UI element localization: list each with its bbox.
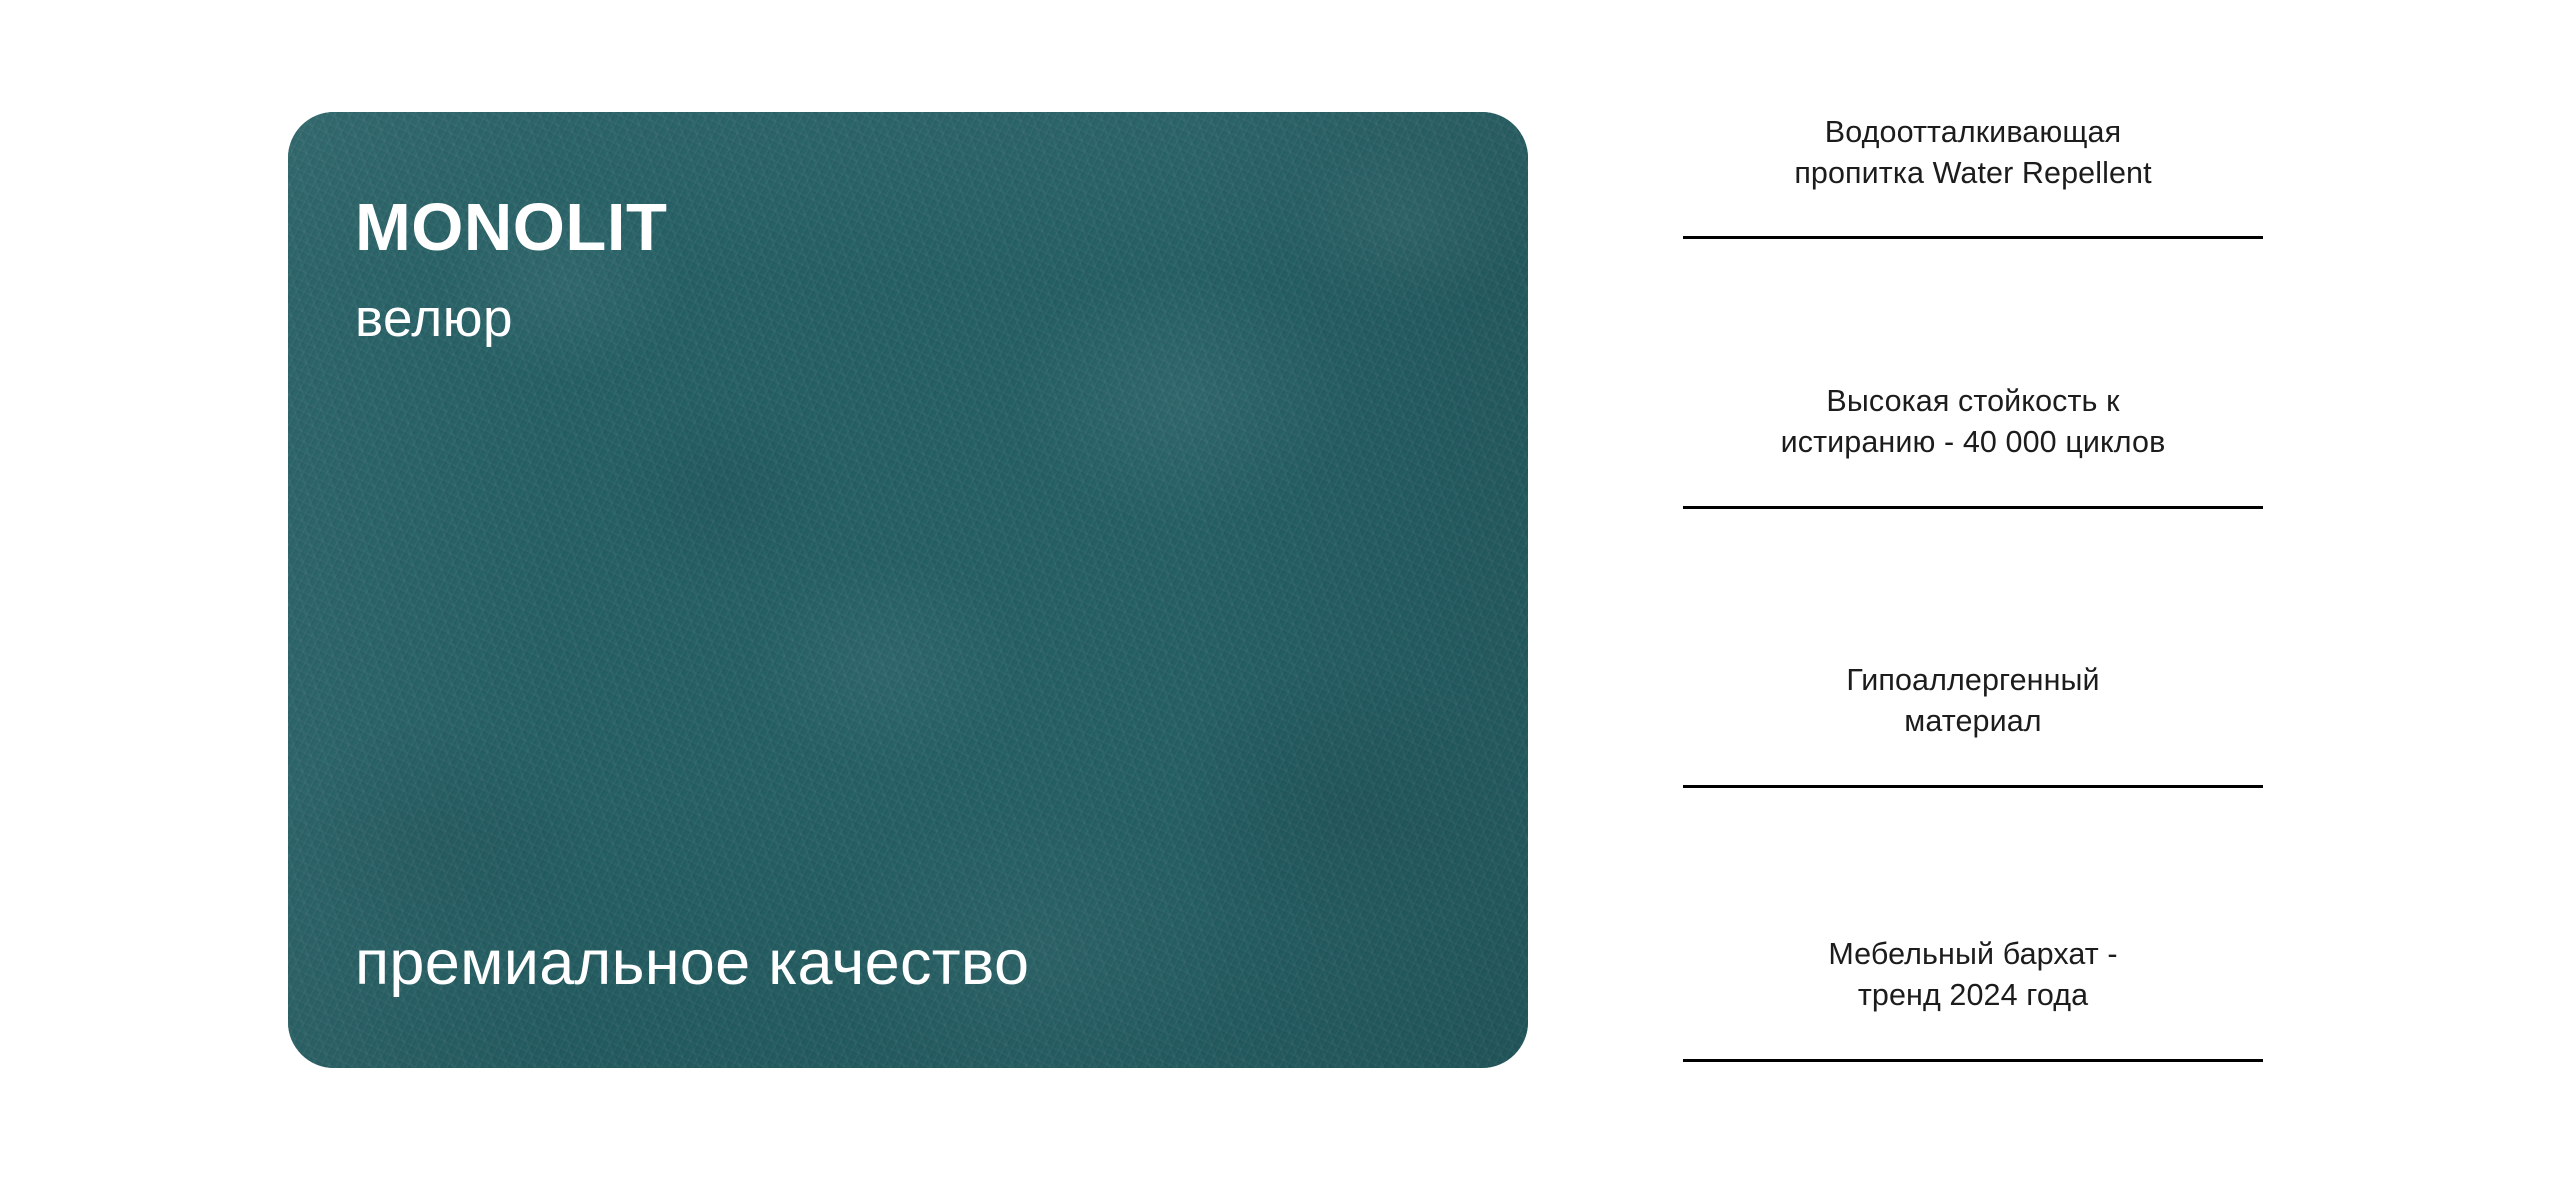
feature-item-trend-2024: Мебельный бархат - тренд 2024 года — [1683, 934, 2263, 1062]
swatch-text-group: MONOLIT велюр премиальное качество — [288, 112, 1528, 1068]
brand-tagline: премиальное качество — [355, 932, 1029, 995]
feature-text: Гипоаллергенный материал — [1683, 660, 2263, 742]
feature-line-2: истиранию - 40 000 циклов — [1683, 422, 2263, 463]
feature-divider — [1683, 506, 2263, 509]
feature-divider — [1683, 785, 2263, 788]
feature-divider — [1683, 1059, 2263, 1062]
feature-line-1: Высокая стойкость к — [1683, 381, 2263, 422]
feature-text: Высокая стойкость к истиранию - 40 000 ц… — [1683, 381, 2263, 463]
feature-line-2: пропитка Water Repellent — [1683, 153, 2263, 194]
feature-text: Мебельный бархат - тренд 2024 года — [1683, 934, 2263, 1016]
feature-line-1: Водоотталкивающая — [1683, 112, 2263, 153]
brand-subtitle: велюр — [355, 292, 513, 345]
feature-item-hypoallergenic: Гипоаллергенный материал — [1683, 660, 2263, 788]
feature-line-2: материал — [1683, 701, 2263, 742]
feature-item-abrasion-resistance: Высокая стойкость к истиранию - 40 000 ц… — [1683, 381, 2263, 509]
brand-title: MONOLIT — [355, 194, 667, 261]
fabric-swatch: MONOLIT велюр премиальное качество — [288, 112, 1528, 1068]
feature-divider — [1683, 236, 2263, 239]
feature-line-1: Гипоаллергенный — [1683, 660, 2263, 701]
feature-item-water-repellent: Водоотталкивающая пропитка Water Repelle… — [1683, 112, 2263, 239]
feature-text: Водоотталкивающая пропитка Water Repelle… — [1683, 112, 2263, 194]
feature-line-2: тренд 2024 года — [1683, 975, 2263, 1016]
feature-line-1: Мебельный бархат - — [1683, 934, 2263, 975]
